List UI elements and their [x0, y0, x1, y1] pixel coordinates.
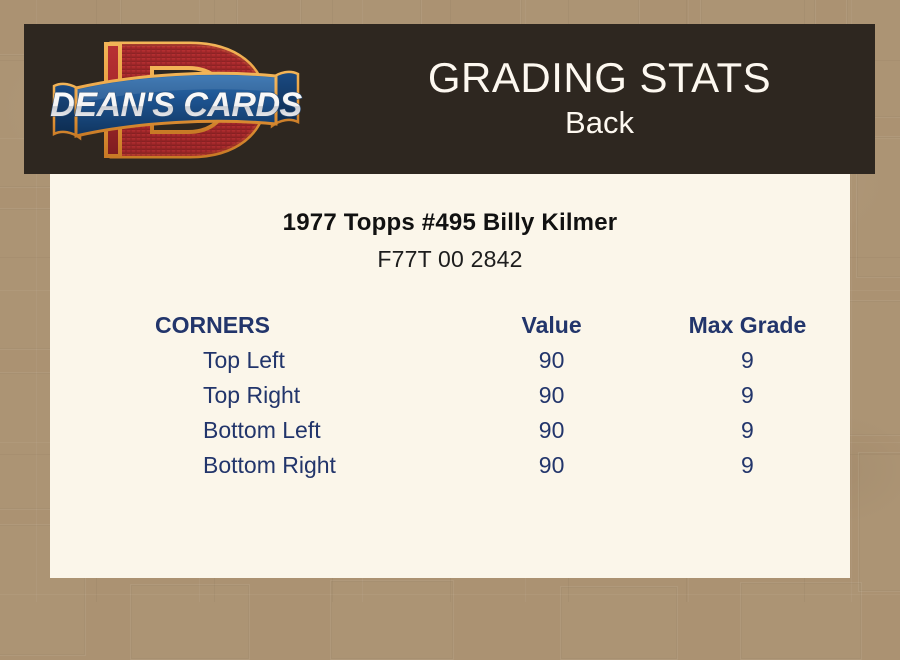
header-title-group: GRADING STATS Back [324, 24, 875, 174]
background-card-tile [560, 586, 678, 660]
table-row: Top Right 90 9 [50, 378, 850, 413]
row-label: Top Left [50, 343, 478, 378]
logo-wordmark: DEAN'S CARDS [50, 86, 302, 124]
background-card-tile [858, 452, 900, 592]
row-value: 90 [478, 448, 673, 483]
column-header-max-grade: Max Grade [673, 307, 850, 343]
row-label: Bottom Left [50, 413, 478, 448]
row-max-grade: 9 [673, 343, 850, 378]
deans-cards-logo[interactable]: DEAN'S CARDS [40, 30, 312, 170]
content-panel: 1977 Topps #495 Billy Kilmer F77T 00 284… [50, 174, 850, 578]
row-value: 90 [478, 343, 673, 378]
background-card-tile [740, 582, 862, 660]
row-max-grade: 9 [673, 448, 850, 483]
stats-section-label: CORNERS [50, 307, 478, 343]
background-card-tile [130, 584, 250, 660]
card-serial-number: F77T 00 2842 [50, 237, 850, 273]
row-max-grade: 9 [673, 378, 850, 413]
stats-header-row: CORNERS Value Max Grade [50, 307, 850, 343]
table-row: Bottom Left 90 9 [50, 413, 850, 448]
row-max-grade: 9 [673, 413, 850, 448]
table-row: Top Left 90 9 [50, 343, 850, 378]
row-label: Bottom Right [50, 448, 478, 483]
stats-table-head: CORNERS Value Max Grade [50, 307, 850, 343]
card-title: 1977 Topps #495 Billy Kilmer [50, 174, 850, 237]
background-card-tile [330, 580, 454, 660]
row-label: Top Right [50, 378, 478, 413]
header-bar: DEAN'S CARDS GRADING STATS Back [24, 24, 875, 174]
column-header-value: Value [478, 307, 673, 343]
page-title: GRADING STATS [428, 55, 771, 100]
page-subtitle: Back [565, 104, 634, 143]
table-row: Bottom Right 90 9 [50, 448, 850, 483]
page-root: DEAN'S CARDS GRADING STATS Back 1977 Top… [0, 0, 900, 602]
background-card-tile [844, 300, 900, 436]
row-value: 90 [478, 378, 673, 413]
stats-table-body: Top Left 90 9 Top Right 90 9 Bottom Left… [50, 343, 850, 483]
grading-stats-table: CORNERS Value Max Grade Top Left 90 9 To… [50, 307, 850, 483]
row-value: 90 [478, 413, 673, 448]
